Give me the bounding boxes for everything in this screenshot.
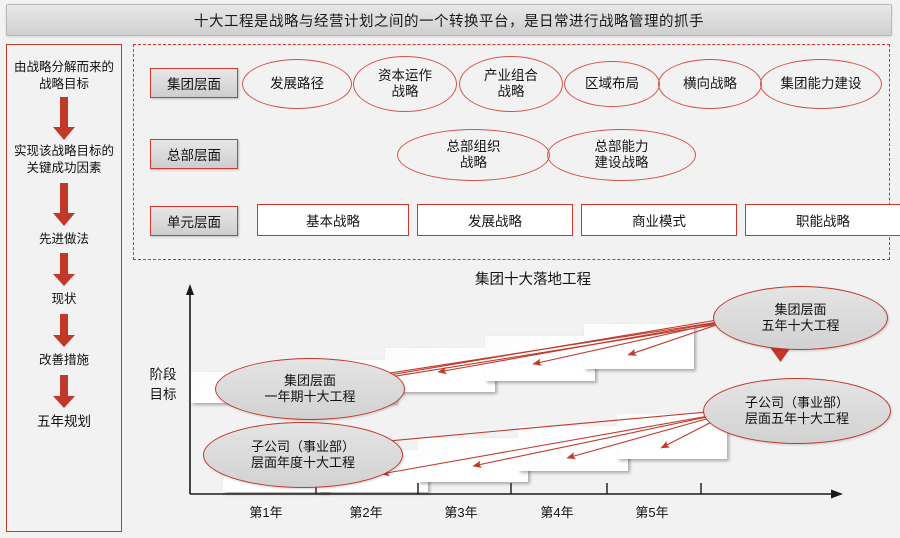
callout-label: 集团层面 一年期十大工程: [264, 373, 355, 406]
sidebar-step-2: 实现该战略目标的关键成功因素: [11, 143, 117, 177]
down-arrow-icon-1: [49, 97, 79, 141]
down-arrow-icon-4: [49, 314, 79, 348]
unit-box-business-model[interactable]: 商业模式: [581, 204, 737, 236]
strategy-ellipse-hq-capability[interactable]: 总部能力建设战略: [547, 129, 696, 181]
callout-subsidiary-five-year[interactable]: 子公司（事业部） 层面五年十大工程: [703, 378, 891, 444]
header-banner: 十大工程是战略与经营计划之间的一个转换平台，是日常进行战略管理的抓手: [6, 4, 892, 36]
strategy-decomposition-sidebar: 由战略分解而来的战略目标 实现该战略目标的关键成功因素 先进做法 现状 改善措施…: [6, 44, 122, 532]
callout-label: 子公司（事业部） 层面五年十大工程: [745, 395, 849, 428]
down-arrow-icon-2: [49, 183, 79, 227]
landing-projects-chart: 集团十大落地工程 阶段 目标: [133, 262, 893, 536]
down-arrow-icon-5: [49, 375, 79, 409]
unit-box-basic-strategy[interactable]: 基本战略: [257, 204, 409, 236]
callout-label: 子公司（事业部） 层面年度十大工程: [251, 439, 355, 472]
unit-box-functional-strategy[interactable]: 职能战略: [745, 204, 900, 236]
strategy-ellipse-horizontal-strategy[interactable]: 横向战略: [658, 59, 762, 109]
callout-subsidiary-annual[interactable]: 子公司（事业部） 层面年度十大工程: [203, 422, 403, 488]
sidebar-step-5: 改善措施: [11, 352, 117, 369]
ellipse-label: 总部组织战略: [447, 139, 501, 171]
sidebar-step-4: 现状: [11, 291, 117, 308]
strategy-levels-panel: 集团层面 发展路径 资本运作战略 产业组合战略 区域布局 横向战略 集团能力建设…: [133, 44, 890, 260]
callout-group-five-year[interactable]: 集团层面 五年十大工程: [713, 286, 888, 350]
level-badge-group: 集团层面: [150, 68, 238, 98]
strategy-ellipse-industry-portfolio[interactable]: 产业组合战略: [459, 56, 563, 112]
unit-box-development-strategy[interactable]: 发展战略: [417, 204, 573, 236]
strategy-ellipse-hq-organization[interactable]: 总部组织战略: [397, 129, 550, 181]
sidebar-step-1: 由战略分解而来的战略目标: [11, 59, 117, 93]
callout-label: 集团层面 五年十大工程: [761, 302, 839, 335]
sidebar-step-6: 五年规划: [11, 413, 117, 431]
sidebar-step-3: 先进做法: [11, 231, 117, 248]
strategy-ellipse-regional-layout[interactable]: 区域布局: [564, 61, 660, 107]
header-banner-text: 十大工程是战略与经营计划之间的一个转换平台，是日常进行战略管理的抓手: [194, 10, 704, 31]
ellipse-label: 资本运作战略: [378, 68, 432, 100]
strategy-ellipse-capital-operation[interactable]: 资本运作战略: [353, 56, 457, 112]
ellipse-label: 产业组合战略: [484, 68, 538, 100]
level-badge-headquarters: 总部层面: [150, 139, 238, 169]
callout-group-one-year[interactable]: 集团层面 一年期十大工程: [215, 358, 405, 420]
ellipse-label: 总部能力建设战略: [595, 139, 649, 171]
strategy-ellipse-development-path[interactable]: 发展路径: [242, 59, 352, 109]
strategy-ellipse-group-capability[interactable]: 集团能力建设: [760, 59, 882, 109]
down-arrow-icon-3: [49, 253, 79, 287]
level-badge-unit: 单元层面: [150, 206, 238, 236]
